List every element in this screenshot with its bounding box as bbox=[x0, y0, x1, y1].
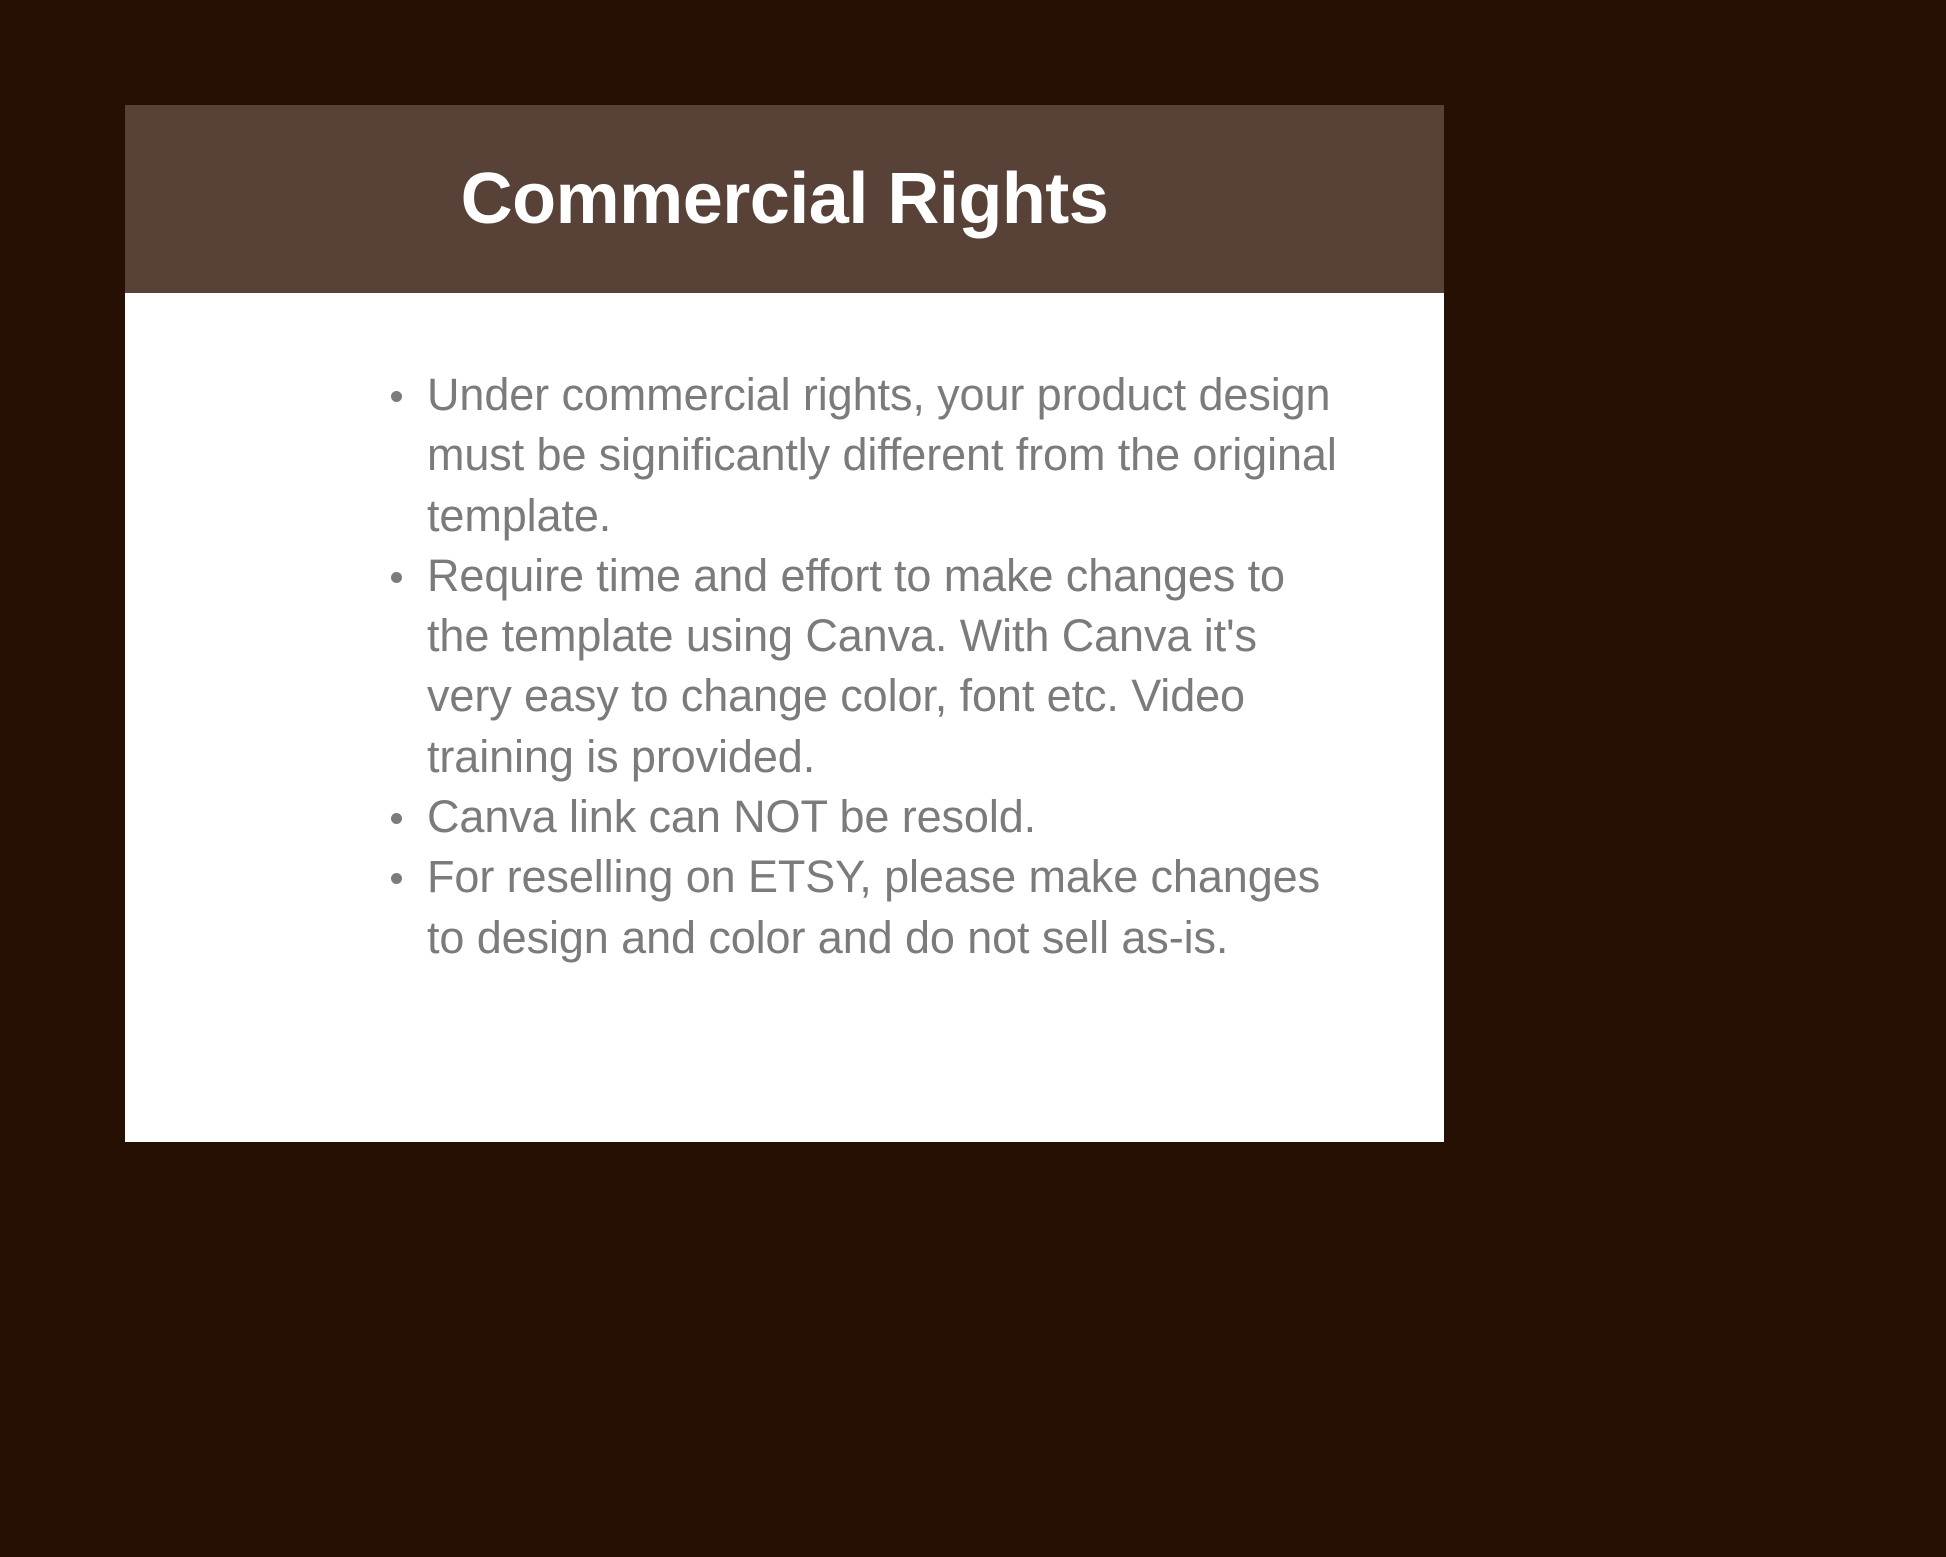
bullet-disc-icon bbox=[391, 572, 402, 583]
rights-bullet-list: Under commercial rights, your product de… bbox=[385, 365, 1345, 968]
page-title: Commercial Rights bbox=[461, 163, 1109, 235]
list-item: For reselling on ETSY, please make chang… bbox=[385, 847, 1345, 968]
bullet-disc-icon bbox=[391, 813, 402, 824]
list-item: Require time and effort to make changes … bbox=[385, 546, 1345, 787]
list-item: Canva link can NOT be resold. bbox=[385, 787, 1345, 847]
commercial-rights-card: Commercial Rights Under commercial right… bbox=[125, 105, 1444, 1142]
slide-canvas: Commercial Rights Under commercial right… bbox=[0, 0, 1946, 1557]
list-item: Under commercial rights, your product de… bbox=[385, 365, 1345, 546]
list-item-text: Under commercial rights, your product de… bbox=[427, 365, 1345, 546]
list-item-text: For reselling on ETSY, please make chang… bbox=[427, 847, 1345, 968]
list-item-text: Canva link can NOT be resold. bbox=[427, 787, 1345, 847]
bullet-disc-icon bbox=[391, 873, 402, 884]
card-header: Commercial Rights bbox=[125, 105, 1444, 293]
bullet-disc-icon bbox=[391, 391, 402, 402]
list-item-text: Require time and effort to make changes … bbox=[427, 546, 1345, 787]
card-body: Under commercial rights, your product de… bbox=[125, 293, 1444, 1142]
